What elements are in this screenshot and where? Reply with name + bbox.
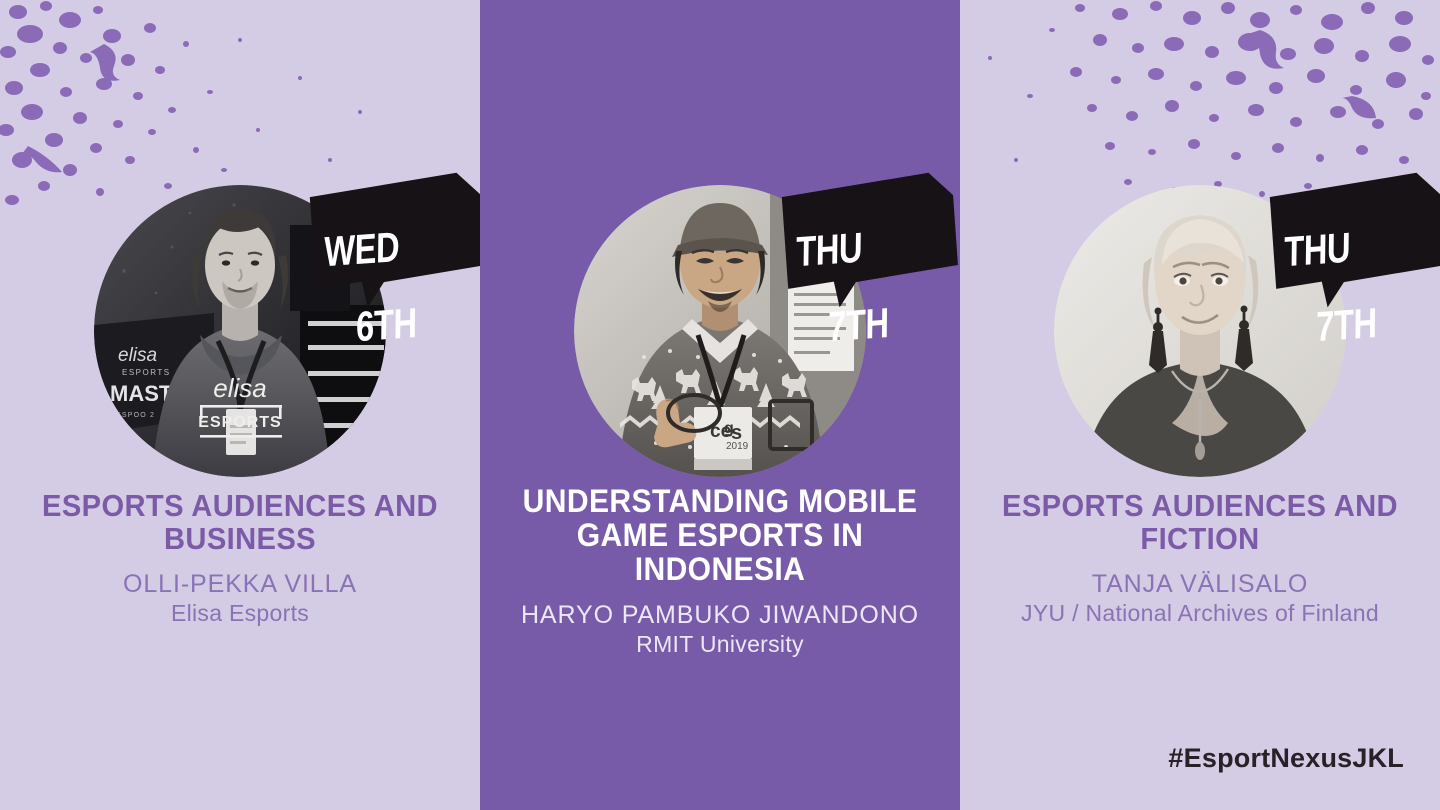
speaker-name-3: TANJA VÄLISALO (974, 569, 1426, 600)
speaker-org-3: JYU / National Archives of Finland (974, 599, 1426, 629)
date-badge-2-dow: THU (796, 225, 908, 272)
date-badge-3-text: THU 7TH (1267, 172, 1412, 311)
svg-text:MAST: MAST (110, 381, 173, 406)
date-badge-2: THU 7TH (779, 169, 960, 311)
speaker-card-2: ce s g 2019 (480, 0, 960, 810)
speaker-name-1: OLLI-PEKKA VILLA (14, 569, 466, 600)
talk-title-3: ESPORTS AUDIENCES AND FICTION (988, 490, 1413, 556)
portrait-wrapper-2: ce s g 2019 (574, 185, 866, 477)
svg-text:ESPORTS: ESPORTS (122, 368, 171, 377)
svg-text:g: g (724, 420, 734, 437)
date-badge-2-text: THU 7TH (779, 172, 924, 311)
date-badge-3-dow: THU (1284, 225, 1396, 272)
speaker-info-3: ESPORTS AUDIENCES AND FICTION TANJA VÄLI… (960, 490, 1440, 629)
speaker-name-2: HARYO PAMBUKO JIWANDONO (494, 600, 946, 631)
date-badge-1-dow: WED (324, 225, 436, 272)
date-badge-3: THU 7TH (1267, 169, 1440, 311)
date-badge-1-text: WED 6TH (307, 172, 452, 311)
speaker-card-1: elisa ESPORTS MAST ESPOO 2 (0, 0, 480, 810)
portrait-wrapper-3: THU 7TH (1054, 185, 1346, 477)
svg-text:ESPORTS: ESPORTS (198, 414, 281, 431)
portrait-wrapper-1: elisa ESPORTS MAST ESPOO 2 (94, 185, 386, 477)
speaker-card-3: THU 7TH ESPORTS AUDIENCES AND FICTION TA… (960, 0, 1440, 810)
date-badge-3-dom: 7TH (1316, 302, 1401, 347)
speaker-org-1: Elisa Esports (14, 599, 466, 629)
date-badge-2-dom: 7TH (828, 302, 913, 347)
svg-text:2019: 2019 (726, 441, 749, 452)
date-badge-1: WED 6TH (307, 169, 480, 311)
svg-text:ESPOO 2: ESPOO 2 (116, 412, 155, 419)
date-badge-1-dom: 6TH (356, 302, 441, 347)
svg-text:elisa: elisa (213, 373, 266, 403)
event-hashtag: #EsportNexusJKL (1168, 743, 1404, 774)
talk-title-1: ESPORTS AUDIENCES AND BUSINESS (28, 490, 453, 556)
speaker-info-1: ESPORTS AUDIENCES AND BUSINESS OLLI-PEKK… (0, 490, 480, 629)
svg-text:elisa: elisa (118, 345, 157, 366)
speaker-card-poster: elisa ESPORTS MAST ESPOO 2 (0, 0, 1440, 810)
talk-title-2: UNDERSTANDING MOBILE GAME ESPORTS IN IND… (508, 485, 933, 587)
speaker-org-2: RMIT University (494, 630, 946, 660)
speaker-info-2: UNDERSTANDING MOBILE GAME ESPORTS IN IND… (480, 485, 960, 660)
